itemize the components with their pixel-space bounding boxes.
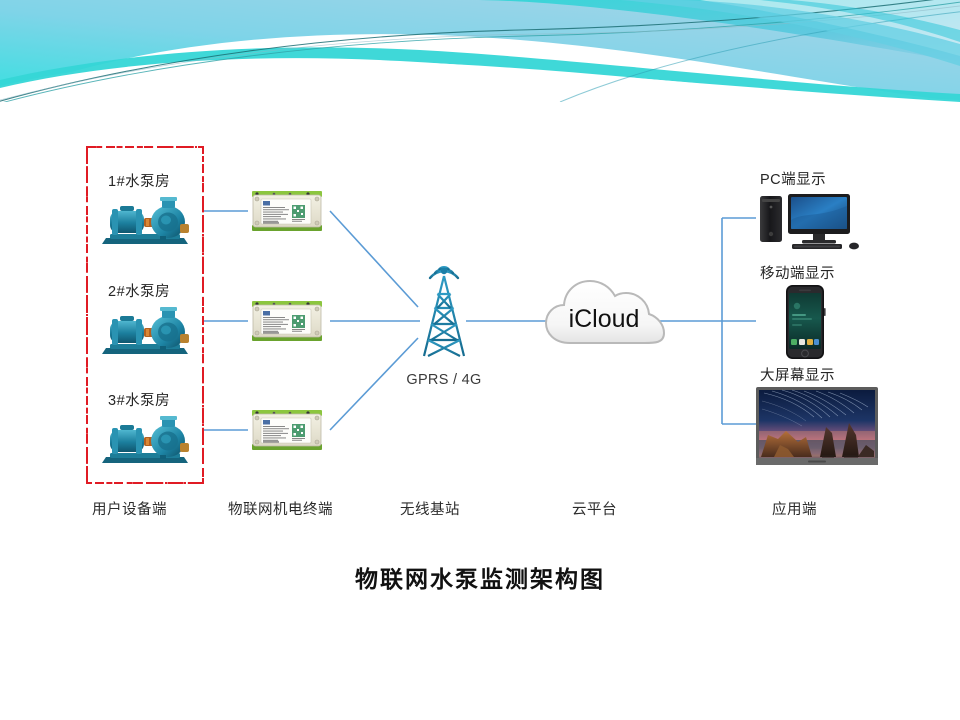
smartphone-icon — [784, 284, 826, 365]
cell-tower-icon — [398, 252, 490, 381]
water-pump-icon-3 — [100, 413, 192, 474]
app-label-pc: PC端显示 — [760, 168, 826, 189]
column-label-user-equipment: 用户设备端 — [92, 498, 167, 519]
iot-terminal-module-icon-2 — [250, 298, 324, 349]
iot-terminal-module-icon-1 — [250, 188, 324, 239]
pump-label-1: 1#水泵房 — [108, 170, 170, 191]
app-label-mobile: 移动端显示 — [760, 262, 835, 283]
water-pump-icon-2 — [100, 304, 192, 365]
cloud-label: iCloud — [569, 305, 640, 333]
large-screen-display-icon — [756, 387, 878, 470]
column-label-iot-terminal: 物联网机电终端 — [228, 498, 333, 519]
app-label-bigscreen: 大屏幕显示 — [760, 364, 835, 385]
header-decoration-band — [0, 0, 960, 102]
column-label-application: 应用端 — [772, 498, 817, 519]
water-pump-icon-1 — [100, 194, 192, 255]
iot-terminal-module-icon-3 — [250, 407, 324, 458]
cloud-icon: iCloud — [540, 265, 668, 366]
column-label-cloud-platform: 云平台 — [572, 498, 617, 519]
tower-caption: GPRS / 4G — [396, 372, 492, 388]
slide-canvas: 1#水泵房 — [0, 0, 960, 720]
desktop-computer-icon — [756, 190, 866, 257]
architecture-diagram: 1#水泵房 — [0, 102, 960, 572]
pump-label-3: 3#水泵房 — [108, 389, 170, 410]
pump-label-2: 2#水泵房 — [108, 280, 170, 301]
column-label-base-station: 无线基站 — [400, 498, 460, 519]
page-title: 物联网水泵监测架构图 — [0, 560, 960, 594]
